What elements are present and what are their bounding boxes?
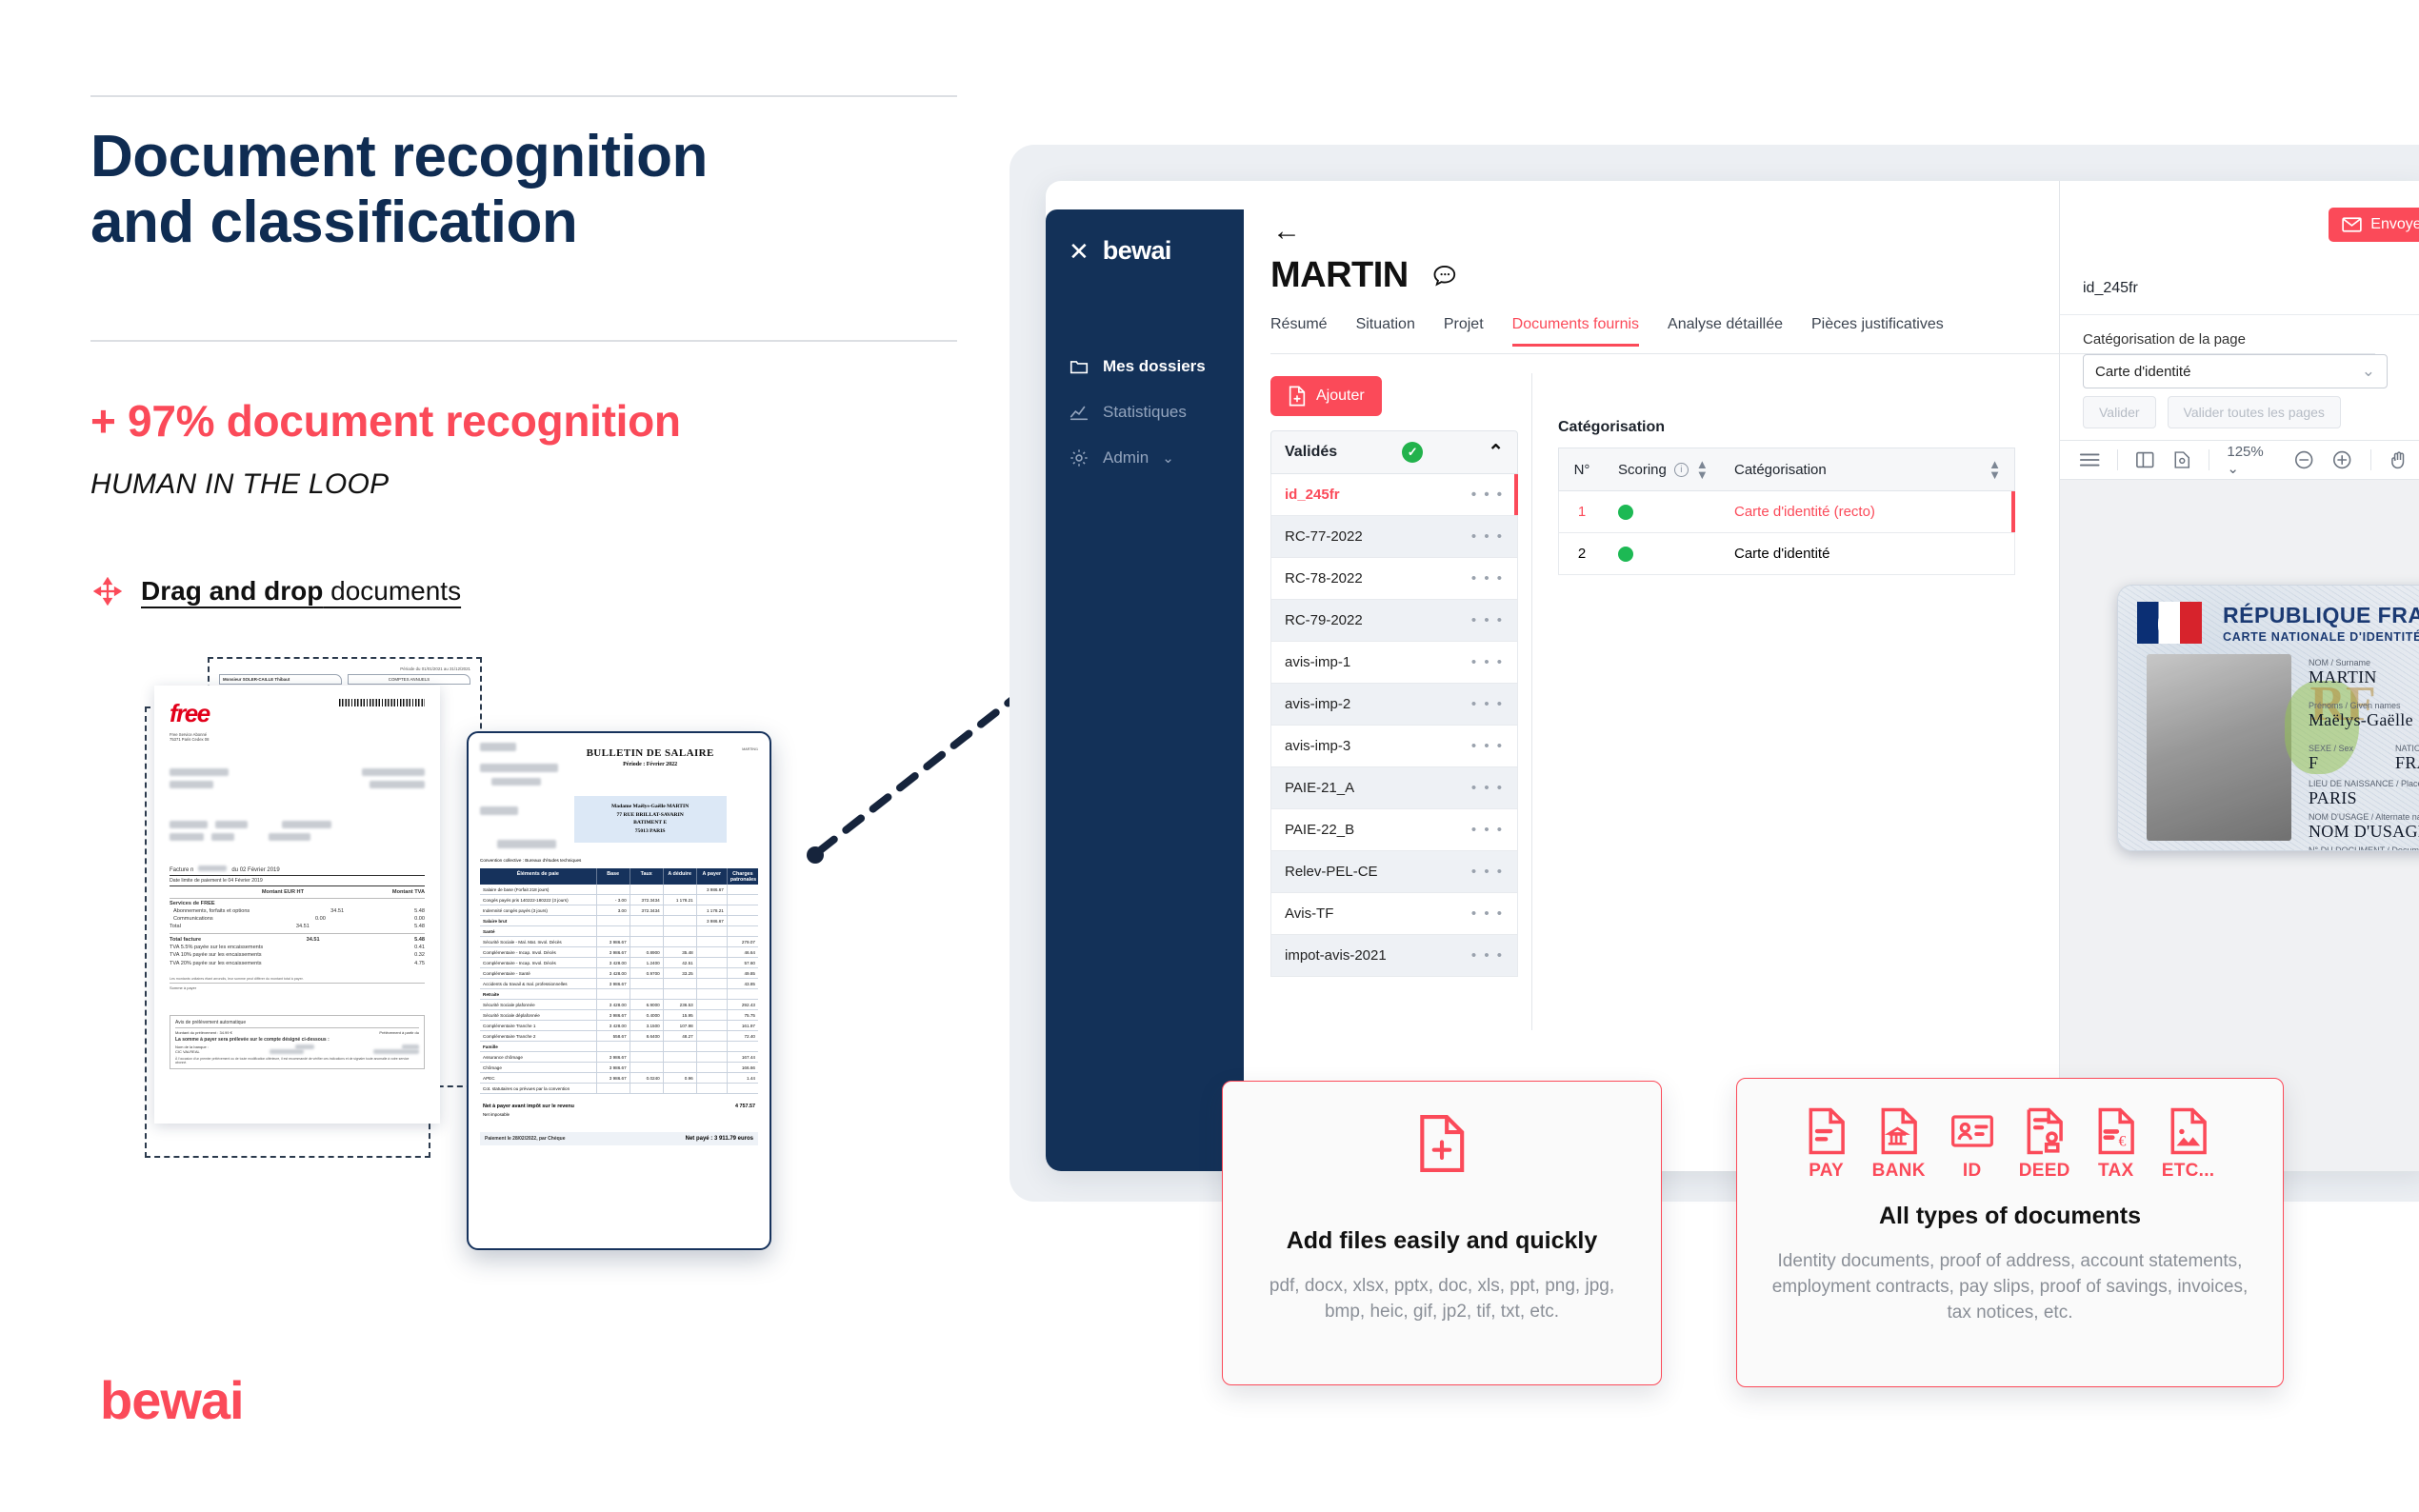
document-thumbnail-payslip: BULLETIN DE SALAIRE Période : Février 20…: [467, 731, 771, 1250]
divider-middle: [90, 340, 957, 342]
row-menu-icon[interactable]: • • •: [1471, 780, 1504, 796]
invoice-blur-9: [211, 833, 234, 841]
pdf-toolbar: 125% ⌄: [2060, 440, 2419, 480]
free-address-2: 75371 Paris Cedex 08: [170, 737, 210, 742]
document-list-item[interactable]: Relev-PEL-CE• • •: [1270, 851, 1518, 893]
tab-projet[interactable]: Projet: [1444, 316, 1484, 347]
invoice-number-label: Facture n: [170, 867, 193, 873]
chevron-down-icon[interactable]: ⌄: [1162, 449, 1174, 467]
invoice-total-row: Total facture 34.51 5.48: [170, 936, 425, 944]
add-document-button[interactable]: Ajouter: [1270, 376, 1382, 416]
document-list-item[interactable]: RC-78-2022• • •: [1270, 558, 1518, 600]
payslip-row: Complémentaire - Incap. Invol. Décès3 42…: [480, 958, 758, 968]
gear-icon: [1069, 448, 1090, 468]
id-nationalite-label: NATIONALITÉ: [2395, 744, 2419, 753]
drag-drop-bold-text: Drag and drop: [141, 576, 323, 606]
page-category-select[interactable]: Carte d'identité ⌄: [2083, 354, 2388, 388]
validated-check-icon: ✓: [1402, 442, 1423, 463]
payslip-total: Paiement le 28/02/2022, par Chèque Net p…: [480, 1132, 758, 1145]
sidebar-logo: ✕ bewai: [1046, 236, 1244, 266]
stat-recognition-rate: + 97% document recognition: [90, 395, 986, 447]
left-panel: Document recognition and classification …: [0, 0, 1010, 1512]
free-logo: free: [170, 699, 210, 728]
payslip-row: Sécurité Sociale - Mal. Mat. Invol. Décè…: [480, 937, 758, 947]
payslip-row: Congés payés pris 140222-180222 (3 jours…: [480, 895, 758, 905]
sidebar-brand-label: bewai: [1103, 236, 1171, 266]
document-list-item[interactable]: impot-avis-2021• • •: [1270, 935, 1518, 977]
tab-pi-ces-justificatives[interactable]: Pièces justificatives: [1811, 316, 1944, 347]
document-list-item[interactable]: avis-imp-1• • •: [1270, 642, 1518, 684]
back-arrow-icon[interactable]: ←: [1272, 217, 1301, 246]
document-list-item[interactable]: avis-imp-2• • •: [1270, 684, 1518, 726]
document-list-item[interactable]: Avis-TF• • •: [1270, 893, 1518, 935]
invoice-blur-3: [170, 781, 213, 788]
sidebar-item-label: Mes dossiers: [1103, 357, 1206, 376]
pdf-stage: RÉPUBLIQUE FRANÇAISE CARTE NATIONALE D'I…: [2060, 480, 2419, 1171]
payslip-row: Santé: [480, 926, 758, 937]
invoice-row: Communications 0.00 0.00: [170, 915, 425, 923]
row-menu-icon[interactable]: • • •: [1471, 696, 1504, 712]
document-name: impot-avis-2021: [1285, 947, 1387, 964]
tax-header-kind: COMPTES ANNUELS: [348, 674, 470, 685]
categorisation-row[interactable]: 2Carte d'identité: [1558, 533, 2015, 575]
row-menu-icon[interactable]: • • •: [1471, 905, 1504, 922]
document-name: RC-77-2022: [1285, 528, 1363, 545]
chart-icon: [1069, 402, 1090, 423]
id-nom-value: MARTIN: [2309, 667, 2419, 687]
document-name: PAIE-22_B: [1285, 822, 1354, 838]
sidebar-item-admin[interactable]: Admin ⌄: [1046, 435, 1244, 481]
row-menu-icon[interactable]: • • •: [1471, 570, 1504, 587]
customer-header: MARTIN: [1270, 255, 1460, 296]
invoice-pay-label: Somme à payer: [170, 985, 425, 990]
payslip-period: Période : Février 2022: [574, 762, 727, 767]
invoice-col-ht: Montant EUR HT: [247, 889, 304, 895]
slide-root: Document recognition and classification …: [0, 0, 2419, 1512]
zoom-out-icon[interactable]: [2293, 448, 2314, 471]
document-name: PAIE-21_A: [1285, 780, 1354, 796]
categorisation-table-header: N° Scoring i ▲▼ Catégorisation ▲▼: [1558, 448, 2015, 491]
payslip-blur-2: [480, 764, 558, 772]
tab-documents-fournis[interactable]: Documents fournis: [1512, 316, 1639, 347]
info-icon[interactable]: i: [1674, 463, 1689, 477]
payslip-net-row: Net à payer avant impôt sur le revenu 4 …: [480, 1104, 758, 1109]
payslip-row: Complémentaire Tranche 2558.678.640048.2…: [480, 1031, 758, 1042]
chevron-down-icon: ⌄: [2362, 362, 2375, 381]
document-list-item[interactable]: avis-imp-3• • •: [1270, 726, 1518, 767]
row-menu-icon[interactable]: • • •: [1471, 612, 1504, 628]
row-category: Carte d'identité (recto): [1719, 504, 2014, 520]
row-menu-icon[interactable]: • • •: [1471, 864, 1504, 880]
payslip-table-header: Éléments de paie Base Taux A déduire A p…: [480, 868, 758, 885]
invoice-blur-7: [282, 821, 331, 828]
document-list: Validés ✓ ⌃ id_245fr• • •RC-77-2022• • •…: [1270, 430, 1518, 977]
document-stack: Période du 01/01/2021 au 31/12/2021 Mons…: [181, 657, 790, 1285]
invoice-row: Abonnements, forfaits et options 34.51 5…: [170, 906, 425, 914]
id-nom-label: NOM / Surname: [2309, 658, 2419, 667]
invoice-blur-2: [362, 768, 425, 776]
drag-drop-light-text: documents: [323, 576, 461, 606]
deed-stamp-icon: [2024, 1107, 2066, 1155]
payslip-address: Madame Maëlys-Gaëlle MARTIN 77 RUE BRILL…: [574, 796, 727, 843]
doc-type-deed: DEED: [2019, 1107, 2070, 1182]
doc-type-label: BANK: [1872, 1161, 1926, 1182]
document-viewer: id_245fr Catégorisation de la page Carte…: [2059, 181, 2419, 1171]
invoice-tva-row: TVA 5.5% payée sur les encaissements 0.4…: [170, 944, 425, 951]
hand-tool-icon[interactable]: [2389, 448, 2409, 471]
id-sexe-label: SEXE / Sex: [2309, 744, 2353, 753]
row-number: 1: [1559, 504, 1605, 520]
brand-logo: bewai: [100, 1369, 244, 1431]
invoice-blur-1: [170, 768, 229, 776]
file-plus-icon: [1288, 386, 1307, 407]
row-menu-icon[interactable]: • • •: [1471, 528, 1504, 545]
app-content: ← Envoyer MARTIN RésuméSituationProjetDo…: [1244, 181, 2419, 1171]
drag-and-drop-label: Drag and drop documents: [141, 576, 461, 607]
image-document-icon: [2168, 1107, 2209, 1155]
doc-type-label: PAY: [1809, 1161, 1844, 1182]
row-number: 2: [1559, 546, 1605, 562]
callout-document-types: PAY BANK ID: [1736, 1078, 2284, 1387]
tab-r-sum-[interactable]: Résumé: [1270, 316, 1328, 347]
sort-scoring-icon[interactable]: ▲▼: [1696, 459, 1709, 480]
headline-line-1: Document recognition: [90, 124, 967, 189]
document-type-icons: PAY BANK ID: [1766, 1107, 2254, 1182]
invoice-note: Les montants unitaires étant arrondis, l…: [170, 977, 425, 981]
payslip-row: APEC3 986.670.02400.961.44: [480, 1073, 758, 1084]
doc-type-pay: PAY: [1806, 1107, 1848, 1182]
doc-type-label: ID: [1963, 1161, 1982, 1182]
document-name: RC-79-2022: [1285, 612, 1363, 628]
zoom-level[interactable]: 125% ⌄: [2227, 444, 2275, 477]
document-name: avis-imp-2: [1285, 696, 1350, 712]
divider-top: [90, 95, 957, 97]
drag-and-drop-feature: Drag and drop documents: [93, 576, 461, 607]
tax-header-name: Monsieur SOLER-CAILLE Thibaut: [219, 674, 342, 685]
id-lieu-value: PARIS: [2309, 788, 2419, 808]
callout-body: pdf, docx, xlsx, pptx, doc, xls, ppt, pn…: [1255, 1274, 1629, 1325]
tab-analyse-d-taill-e[interactable]: Analyse détaillée: [1668, 316, 1783, 347]
payslip-row: Indemnité congés payés (3 jours)3.00372.…: [480, 905, 758, 916]
id-nationalite-value: FRA: [2395, 753, 2419, 773]
sidebar-item-label: Admin: [1103, 448, 1149, 468]
doc-type-etc: ETC...: [2162, 1107, 2215, 1182]
document-list-item[interactable]: RC-77-2022• • •: [1270, 516, 1518, 558]
id-photo: [2147, 654, 2291, 841]
doc-type-label: TAX: [2098, 1161, 2134, 1182]
tax-header-period: Période du 01/01/2021 au 31/12/2021: [219, 666, 470, 671]
id-usage-label: NOM D'USAGE / Alternate name: [2309, 812, 2419, 822]
payslip-row: Complémentaire Tranche 13 428.003.150010…: [480, 1021, 758, 1031]
payslip-blur-3: [491, 778, 541, 786]
invoice-blur-8: [170, 833, 204, 841]
callout-heading: Add files easily and quickly: [1255, 1227, 1629, 1255]
document-list-item[interactable]: PAIE-22_B• • •: [1270, 809, 1518, 851]
add-document-label: Ajouter: [1316, 388, 1365, 405]
callout-body: Identity documents, proof of address, ac…: [1766, 1249, 2254, 1326]
payslip-title: BULLETIN DE SALAIRE: [574, 747, 727, 759]
id-prenoms-value: Maëlys-Gaëlle: [2309, 710, 2419, 730]
invoice-col-tva: Montant TVA: [381, 889, 425, 895]
payslip-convention: Convention collective : Bureaux d'études…: [480, 858, 758, 863]
sidebar-item-mes-dossiers[interactable]: Mes dossiers: [1046, 344, 1244, 389]
menu-icon[interactable]: [2079, 451, 2100, 468]
validate-all-pages-button[interactable]: Valider toutes les pages: [2168, 396, 2341, 428]
invoice-limit: Date limite de paiement le 04 Février 20…: [170, 878, 425, 884]
row-menu-icon[interactable]: • • •: [1471, 822, 1504, 838]
file-plus-icon: [1415, 1114, 1469, 1173]
row-menu-icon[interactable]: • • •: [1471, 738, 1504, 754]
folder-icon: [1069, 356, 1090, 377]
doc-type-label: ETC...: [2162, 1161, 2215, 1182]
barcode: [339, 699, 425, 706]
id-prenoms-label: Prénoms / Given names: [2309, 701, 2419, 710]
id-card-type-label: CARTE NATIONALE D'IDENTITÉ: [2223, 630, 2419, 644]
subtitle-human-in-the-loop: HUMAN IN THE LOOP: [90, 468, 389, 501]
invoice-tva-row: TVA 20% payée sur les encaissements 4.75: [170, 960, 425, 967]
id-document-label: N° DU DOCUMENT / Document No.: [2309, 846, 2419, 851]
invoice-number-blur: [198, 865, 227, 871]
doc-type-tax: € TAX: [2095, 1107, 2137, 1182]
document-name: avis-imp-3: [1285, 738, 1350, 754]
invoice-tva-row: TVA 10% payée sur les encaissements 0.32: [170, 951, 425, 959]
column-header-categorisation: Catégorisation: [1734, 462, 1827, 478]
payslip-row: Cot. statutaires ou prévues par la conve…: [480, 1084, 758, 1094]
payslip-blur-4: [480, 806, 518, 815]
sidebar-item-statistiques[interactable]: Statistiques: [1046, 389, 1244, 435]
bank-document-icon: [1878, 1107, 1920, 1155]
payslip-row: Salaire brut3 986.67: [480, 916, 758, 926]
document-list-header-label: Validés: [1285, 444, 1337, 461]
payslip-net-note: Net imposable: [480, 1112, 758, 1117]
document-thumbnail-free-invoice: free Free Service Abonné 75371 Paris Ced…: [154, 686, 440, 1124]
row-menu-icon[interactable]: • • •: [1471, 487, 1504, 503]
doc-type-label: DEED: [2019, 1161, 2070, 1182]
payslip-table-body: Salaire de base (Forfait 218 jours)3 986…: [480, 885, 758, 1094]
viewer-filename: id_245fr: [2083, 280, 2138, 297]
marianne-bust: [2158, 606, 2179, 640]
page-settings-icon[interactable]: [2172, 449, 2192, 470]
page-title: Document recognition and classification: [90, 124, 967, 256]
tab-situation[interactable]: Situation: [1356, 316, 1415, 347]
callout-add-files: Add files easily and quickly pdf, docx, …: [1222, 1081, 1662, 1385]
payslip-row: Chômage3 986.67166.66: [480, 1063, 758, 1073]
sidebar-item-label: Statistiques: [1103, 403, 1187, 422]
payslip-row: Retraite: [480, 989, 758, 1000]
doc-type-id: ID: [1950, 1107, 1994, 1182]
payslip-row: Sécurité Sociale plafonnée3 428.006.9000…: [480, 1000, 758, 1010]
payslip-row: Complémentaire - Incap. Invol. Décès3 98…: [480, 947, 758, 958]
payslip-row: Complémentaire - Santé3 428.000.970033.2…: [480, 968, 758, 979]
document-list-header[interactable]: Validés ✓ ⌃: [1270, 430, 1518, 474]
payslip-row: Accidents du travail & mal. professionne…: [480, 979, 758, 989]
id-lieu-label: LIEU DE NAISSANCE / Place of birth: [2309, 779, 2419, 788]
tax-euro-icon: €: [2095, 1107, 2137, 1155]
callout-heading: All types of documents: [1766, 1203, 2254, 1230]
sort-categorisation-icon[interactable]: ▲▼: [1989, 459, 2001, 480]
move-arrows-icon: [93, 577, 122, 606]
comment-icon[interactable]: [1431, 262, 1460, 290]
invoice-blur-5: [170, 821, 208, 828]
document-name: id_245fr: [1285, 487, 1340, 503]
row-category: Carte d'identité: [1719, 546, 2014, 562]
svg-text:€: €: [2118, 1133, 2126, 1149]
payslip-row: Sécurité Sociale déplafonnée3 986.670.40…: [480, 1010, 758, 1021]
invoice-debit-box: Avis de prélèvement automatique Montant …: [170, 1015, 425, 1069]
doc-type-bank: BANK: [1872, 1107, 1926, 1182]
id-card-icon: [1950, 1107, 1994, 1155]
headline-line-2: and classification: [90, 189, 967, 255]
customer-name: MARTIN: [1270, 255, 1409, 296]
column-header-number: N°: [1559, 462, 1605, 478]
sidebar-toggle-icon[interactable]: [2135, 449, 2155, 470]
close-icon[interactable]: ✕: [1069, 239, 1090, 264]
id-sexe-value: F: [2309, 753, 2353, 773]
app-sidebar: ✕ bewai Mes dossiers: [1046, 209, 1244, 1171]
payslip-blur-5: [497, 840, 556, 848]
app-window: ✕ bewai Mes dossiers: [1046, 181, 2419, 1171]
invoice-date: du 02 Février 2019: [231, 867, 279, 873]
id-republic-label: RÉPUBLIQUE FRANÇAISE: [2223, 603, 2419, 628]
french-flag-icon: [2137, 602, 2202, 644]
document-name: avis-imp-1: [1285, 654, 1350, 670]
document-list-item[interactable]: PAIE-21_A• • •: [1270, 767, 1518, 809]
sidebar-nav: Mes dossiers Statistiques: [1046, 344, 1244, 481]
scoring-dot: [1618, 505, 1633, 520]
payslip-row: Famille: [480, 1042, 758, 1052]
invoice-blur-10: [269, 833, 310, 841]
categorisation-panel: Catégorisation N° Scoring i ▲▼ Catégoris…: [1558, 419, 2015, 575]
invoice-blur-4: [370, 781, 425, 788]
document-name: Avis-TF: [1285, 905, 1333, 922]
id-card-preview: RÉPUBLIQUE FRANÇAISE CARTE NATIONALE D'I…: [2117, 585, 2419, 851]
payslip-row: Assurance chômage3 986.67167.44: [480, 1052, 758, 1063]
categorisation-title: Catégorisation: [1558, 419, 2015, 436]
zoom-in-icon[interactable]: [2331, 448, 2352, 471]
chevron-up-icon[interactable]: ⌃: [1488, 447, 1504, 458]
viewer-page-category-label: Catégorisation de la page: [2083, 331, 2246, 348]
column-header-scoring: Scoring: [1618, 462, 1667, 478]
row-menu-icon[interactable]: • • •: [1471, 947, 1504, 964]
id-usage-value: NOM D'USAGE: [2309, 822, 2419, 842]
validate-button[interactable]: Valider: [2083, 396, 2156, 428]
row-menu-icon[interactable]: • • •: [1471, 654, 1504, 670]
pay-document-icon: [1806, 1107, 1848, 1155]
document-name: RC-78-2022: [1285, 570, 1363, 587]
categorisation-row[interactable]: 1Carte d'identité (recto): [1558, 491, 2015, 533]
payslip-row: Salaire de base (Forfait 218 jours)3 986…: [480, 885, 758, 895]
payslip-blur-1: [480, 743, 516, 751]
invoice-blur-6: [215, 821, 248, 828]
invoice-row: Total 34.51 5.48: [170, 923, 425, 930]
document-list-item[interactable]: RC-79-2022• • •: [1270, 600, 1518, 642]
scoring-dot: [1618, 547, 1633, 562]
payslip-ref: MARTIN/1: [742, 743, 758, 751]
page-category-value: Carte d'identité: [2095, 364, 2190, 380]
document-name: Relev-PEL-CE: [1285, 864, 1378, 880]
document-list-item[interactable]: id_245fr• • •: [1270, 474, 1518, 516]
